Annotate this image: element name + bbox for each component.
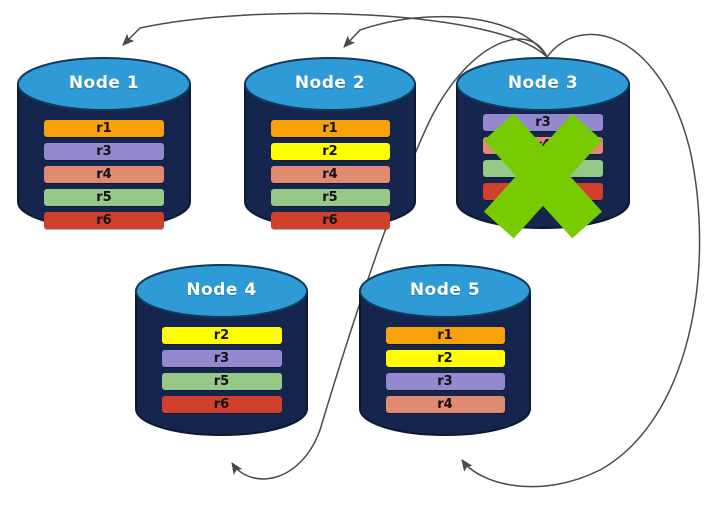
record-bar[interactable]: r2 <box>386 350 505 367</box>
record-list: r2r3r5r6 <box>136 327 307 419</box>
cylinder-top <box>18 58 190 110</box>
cylinder-top <box>360 265 530 317</box>
record-bar[interactable]: r6 <box>271 212 390 229</box>
cylinder-top <box>136 265 307 317</box>
db-node-5[interactable]: Node 5r1r2r3r4 <box>360 265 530 435</box>
record-bar[interactable]: r5 <box>44 189 164 206</box>
record-bar[interactable]: r5 <box>162 373 282 390</box>
record-bar[interactable]: r4 <box>386 396 505 413</box>
record-bar[interactable]: r3 <box>162 350 282 367</box>
record-bar[interactable]: r6 <box>44 212 164 229</box>
db-node-4[interactable]: Node 4r2r3r5r6 <box>136 265 307 435</box>
record-bar[interactable]: r5 <box>271 189 390 206</box>
record-bar[interactable]: r4 <box>483 137 603 154</box>
record-bar[interactable]: r2 <box>271 143 390 160</box>
record-list: r1r3r4r5r6 <box>18 120 190 235</box>
record-bar[interactable]: r1 <box>386 327 505 344</box>
cylinder-top <box>245 58 415 110</box>
record-bar[interactable]: r5 <box>483 160 603 177</box>
record-list: r1r2r4r5r6 <box>245 120 415 235</box>
record-bar[interactable]: r3 <box>44 143 164 160</box>
record-list: r1r2r3r4 <box>360 327 530 419</box>
record-bar[interactable]: r2 <box>162 327 282 344</box>
record-bar[interactable]: r1 <box>44 120 164 137</box>
record-bar[interactable]: r3 <box>386 373 505 390</box>
record-bar[interactable]: r3 <box>483 114 603 131</box>
db-node-1[interactable]: Node 1r1r3r4r5r6 <box>18 58 190 228</box>
db-node-2[interactable]: Node 2r1r2r4r5r6 <box>245 58 415 228</box>
record-bar[interactable]: r4 <box>44 166 164 183</box>
db-node-3[interactable]: Node 3r3r4r5r6 <box>457 58 629 228</box>
record-bar[interactable]: r1 <box>271 120 390 137</box>
record-bar[interactable]: r4 <box>271 166 390 183</box>
record-bar[interactable]: r6 <box>162 396 282 413</box>
record-list: r3r4r5r6 <box>457 114 629 206</box>
cylinder-top <box>457 58 629 110</box>
record-bar[interactable]: r6 <box>483 183 603 200</box>
